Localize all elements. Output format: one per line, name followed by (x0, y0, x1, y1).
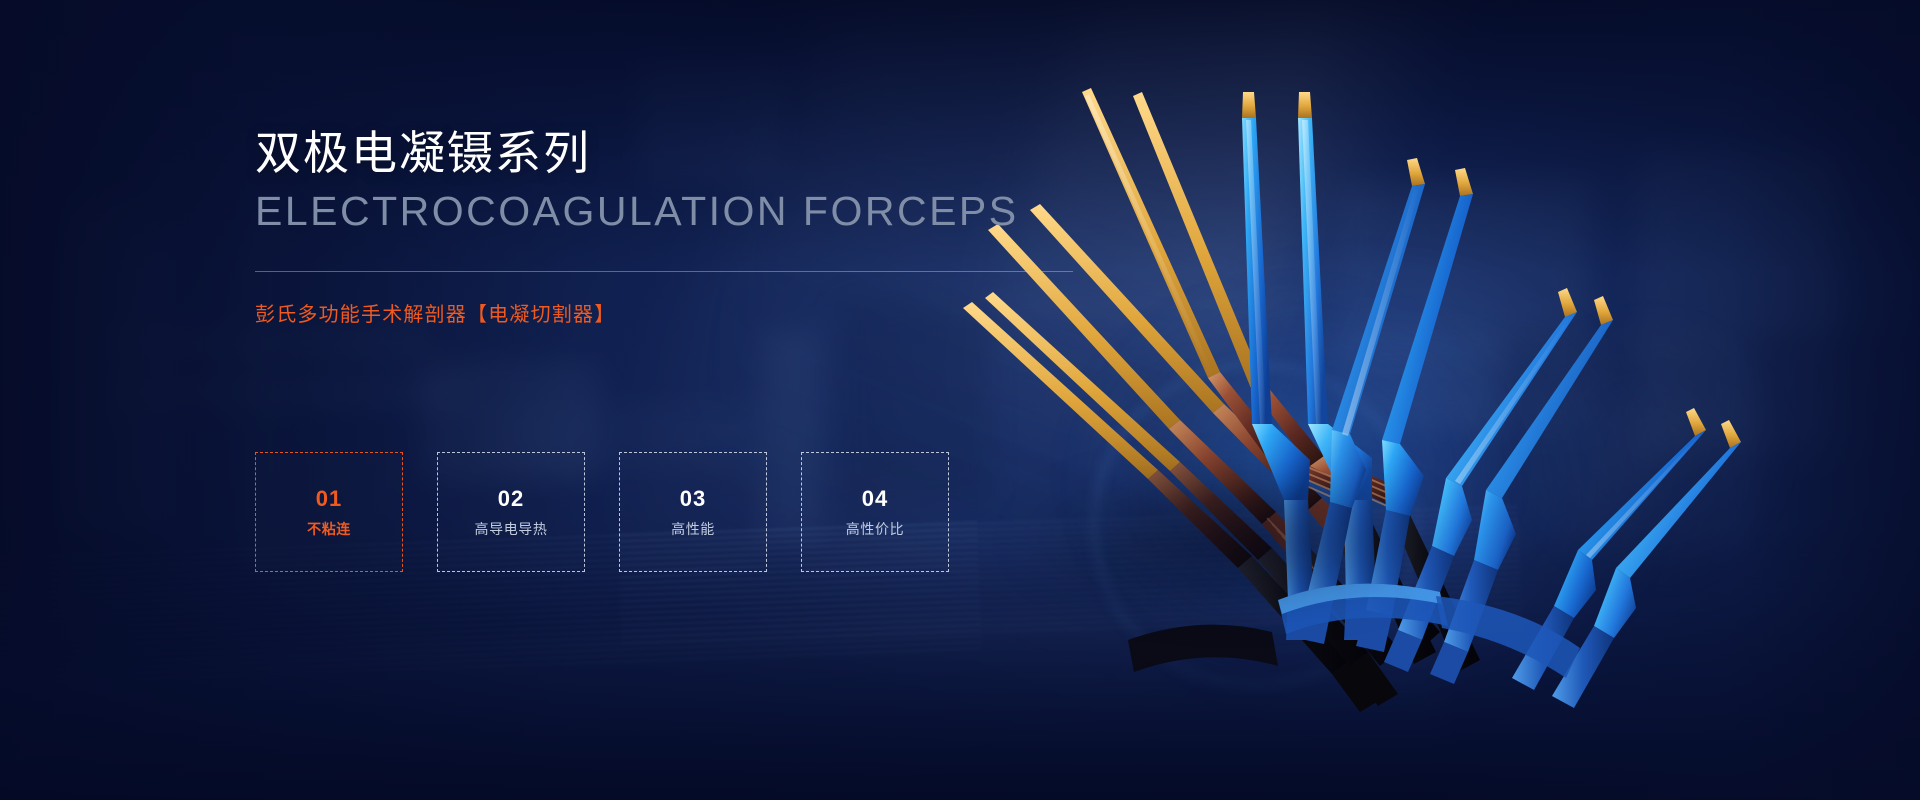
page-title: 双极电凝镊系列 (255, 128, 1055, 179)
feature-number: 03 (680, 488, 706, 510)
feature-number: 04 (862, 488, 888, 510)
feature-number: 02 (498, 488, 524, 510)
feature-label: 不粘连 (307, 522, 351, 536)
feature-label: 高性能 (671, 522, 715, 536)
feature-label: 高导电导热 (475, 522, 548, 536)
feature-item-04[interactable]: 04 高性价比 (801, 452, 949, 572)
feature-item-02[interactable]: 02 高导电导热 (437, 452, 585, 572)
vignette-right (0, 0, 1920, 800)
product-hero-banner: 双极电凝镊系列 ELECTROCOAGULATION FORCEPS 彭氏多功能… (0, 0, 1920, 800)
title-divider (255, 271, 1073, 272)
feature-item-01[interactable]: 01 不粘连 (255, 452, 403, 572)
feature-list: 01 不粘连 02 高导电导热 03 高性能 04 高性价比 (255, 452, 949, 572)
feature-number: 01 (316, 488, 342, 510)
product-tagline: 彭氏多功能手术解剖器【电凝切割器】 (255, 298, 1055, 327)
feature-label: 高性价比 (846, 522, 904, 536)
feature-item-03[interactable]: 03 高性能 (619, 452, 767, 572)
page-subtitle-english: ELECTROCOAGULATION FORCEPS (255, 189, 1055, 235)
product-shadow (1020, 470, 1450, 610)
banner-text-block: 双极电凝镊系列 ELECTROCOAGULATION FORCEPS 彭氏多功能… (255, 128, 1055, 327)
